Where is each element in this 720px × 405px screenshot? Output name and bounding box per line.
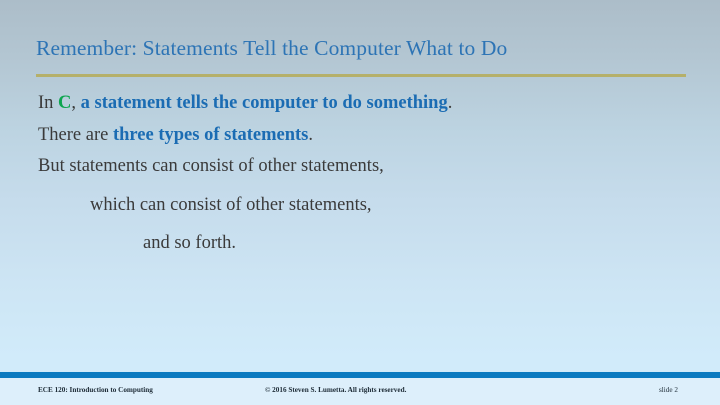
- body-paragraph-4: which can consist of other statements,: [90, 194, 678, 217]
- footer-copyright: © 2016 Steven S. Lumetta. All rights res…: [265, 386, 406, 394]
- p2-text-lead: There are: [38, 125, 113, 145]
- p1-period: .: [448, 93, 453, 113]
- title-underline-rule: [36, 74, 686, 77]
- body-paragraph-1: In C, a statement tells the computer to …: [38, 92, 503, 115]
- slide: Remember: Statements Tell the Computer W…: [0, 0, 720, 405]
- p2-emphasis: three types of statements: [113, 125, 308, 145]
- footer-slide-number: slide 2: [659, 386, 678, 394]
- slide-body: In C, a statement tells the computer to …: [38, 92, 678, 264]
- footer-course-label: ECE 120: Introduction to Computing: [38, 386, 153, 394]
- p2-period: .: [308, 125, 313, 145]
- slide-title: Remember: Statements Tell the Computer W…: [36, 36, 688, 61]
- p1-comma: ,: [71, 93, 80, 113]
- p1-language-c: C: [58, 93, 71, 113]
- body-paragraph-2: There are three types of statements.: [38, 124, 503, 147]
- body-paragraph-3: But statements can consist of other stat…: [38, 155, 503, 178]
- p1-emphasis: a statement tells the computer to do som…: [81, 93, 448, 113]
- body-paragraph-5: and so forth.: [143, 232, 678, 255]
- p1-text-lead: In: [38, 93, 58, 113]
